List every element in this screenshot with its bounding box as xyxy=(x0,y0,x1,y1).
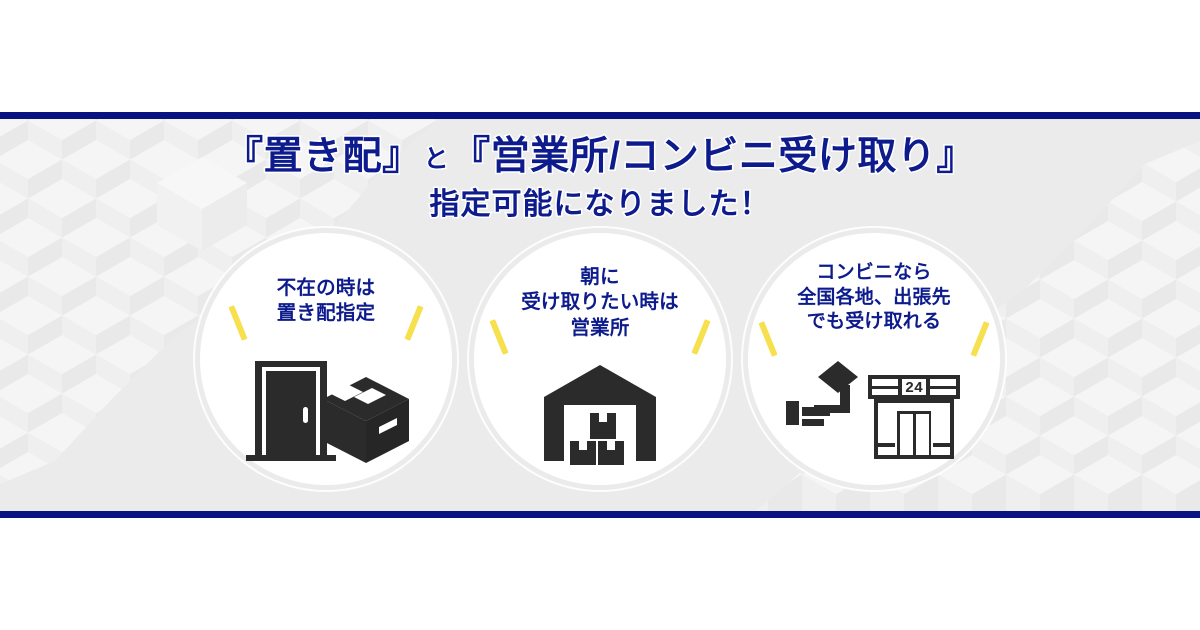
feature-text-eigyosho: 朝に 受け取りたい時は 営業所 xyxy=(474,265,726,341)
headline-conjunction: と xyxy=(422,145,452,173)
headline: 『置き配』と『営業所/コンビニ受け取り』 xyxy=(0,135,1200,179)
headline-part-2: 『営業所/コンビニ受け取り』 xyxy=(451,135,976,178)
feature-circle-okihai[interactable]: 不在の時は 置き配指定 xyxy=(200,233,452,485)
feature-line-1: コンビニなら xyxy=(748,261,1000,286)
feature-line-2: 受け取りたい時は xyxy=(474,290,726,315)
subheadline: 指定可能になりました！ xyxy=(0,188,1200,221)
feature-circle-eigyosho[interactable]: 朝に 受け取りたい時は 営業所 xyxy=(474,233,726,485)
feature-line-1: 朝に xyxy=(474,265,726,290)
store-sign-text: 24 xyxy=(905,380,923,397)
feature-line-2: 全国各地、出張先 xyxy=(748,286,1000,311)
feature-line-3: 営業所 xyxy=(474,316,726,341)
truck-and-store-icon: 24 xyxy=(748,355,1000,467)
feature-text-convenience-store: コンビニなら 全国各地、出張先 でも受け取れる xyxy=(748,261,1000,335)
promo-banner: 『置き配』と『営業所/コンビニ受け取り』 指定可能になりました！ 不在の時は 置… xyxy=(0,112,1200,518)
feature-text-okihai: 不在の時は 置き配指定 xyxy=(200,276,452,327)
headline-block: 『置き配』と『営業所/コンビニ受け取り』 指定可能になりました！ xyxy=(0,135,1200,221)
feature-circle-convenience-store[interactable]: コンビニなら 全国各地、出張先 でも受け取れる xyxy=(748,233,1000,485)
feature-circle-row: 不在の時は 置き配指定 xyxy=(0,233,1200,485)
door-and-box-icon xyxy=(200,355,452,467)
feature-line-1: 不在の時は xyxy=(200,276,452,301)
headline-part-1: 『置き配』 xyxy=(224,135,422,178)
feature-line-3: でも受け取れる xyxy=(748,310,1000,335)
feature-line-2: 置き配指定 xyxy=(200,301,452,326)
banner-stage: 『置き配』と『営業所/コンビニ受け取り』 指定可能になりました！ 不在の時は 置… xyxy=(0,0,1200,630)
warehouse-icon xyxy=(474,361,726,467)
